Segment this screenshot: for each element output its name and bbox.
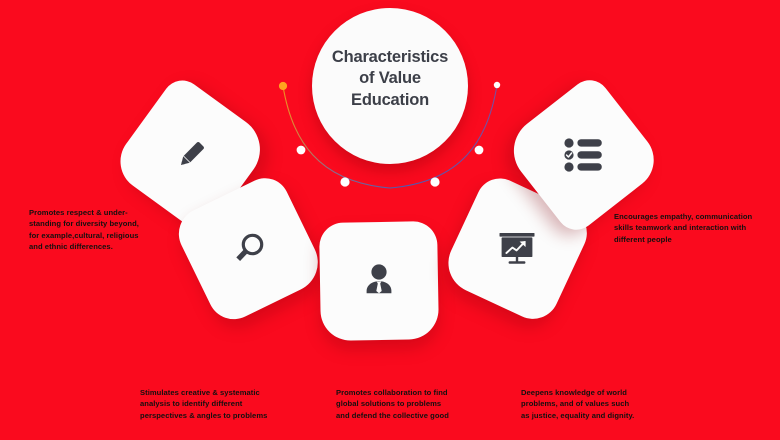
arc-dot <box>340 177 349 186</box>
businessperson-icon <box>357 259 401 303</box>
caption-collaboration: Promotes collaboration to find global so… <box>336 387 516 421</box>
caption-empathy: Encourages empathy, communication skills… <box>614 211 780 245</box>
petal-icon-slot <box>190 190 308 308</box>
petal-icon-slot <box>524 96 642 214</box>
caption-analysis: Stimulates creative & systematic analysi… <box>140 387 310 421</box>
arc-dot <box>430 177 439 186</box>
magnifier-icon <box>229 229 269 269</box>
page-title: Characteristics of Value Education <box>332 47 448 124</box>
checklist-icon <box>561 136 605 174</box>
infographic-canvas: Characteristics of Value Education Promo… <box>0 0 780 440</box>
presentation-chart-icon <box>494 228 540 270</box>
caption-knowledge: Deepens knowledge of world problems, and… <box>521 387 691 421</box>
center-circle: Characteristics of Value Education <box>312 8 468 164</box>
arc-dot <box>297 146 306 155</box>
pencil-icon <box>172 136 210 174</box>
arc-dot-end <box>494 82 500 88</box>
petal-collaboration[interactable] <box>319 221 439 341</box>
petal-icon-slot <box>320 222 438 340</box>
caption-diversity: Promotes respect & under- standing for d… <box>29 207 201 253</box>
arc-dot-start <box>279 82 287 90</box>
arc-dot <box>475 146 484 155</box>
